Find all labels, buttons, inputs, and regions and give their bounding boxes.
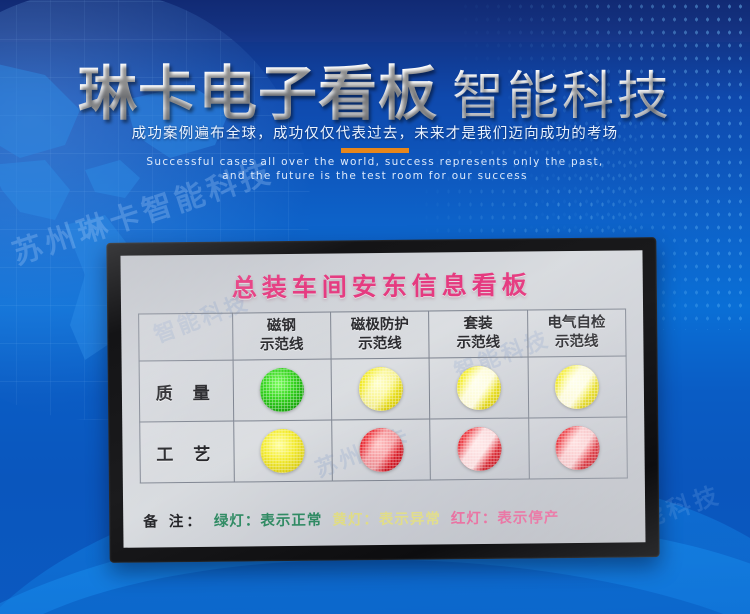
column-header-1: 磁钢 示范线 bbox=[232, 312, 331, 360]
banner-title-row: 琳卡电子看板智能科技 bbox=[0, 46, 750, 131]
column-header-1-line1: 磁钢 bbox=[234, 317, 330, 337]
status-lamp-yellow bbox=[457, 366, 501, 410]
status-cell-quality-2 bbox=[331, 358, 430, 420]
banner-title-sub: 智能科技 bbox=[452, 67, 672, 127]
status-board-table: 磁钢 示范线 磁极防护 示范线 套装 示范线 电气自检 示范线 bbox=[138, 308, 628, 483]
column-header-4: 电气自检 示范线 bbox=[527, 309, 626, 357]
status-cell-quality-4 bbox=[528, 356, 627, 418]
legend-prefix: 备 注： bbox=[143, 514, 204, 531]
banner-subtitle-en-line1: Successful cases all over the world, suc… bbox=[0, 155, 750, 169]
column-header-1-line2: 示范线 bbox=[234, 336, 330, 356]
legend-item-yellow: 黄灯：表示异常 bbox=[332, 511, 441, 528]
table-corner-cell bbox=[139, 313, 233, 361]
column-header-4-line1: 电气自检 bbox=[529, 313, 625, 333]
glare-overlay bbox=[457, 366, 501, 410]
banner-header: 琳卡电子看板智能科技 成功案例遍布全球，成功仅仅代表过去，未来才是我们迈向成功的… bbox=[0, 0, 750, 190]
column-header-2: 磁极防护 示范线 bbox=[330, 311, 429, 359]
banner-subtitle-cn: 成功案例遍布全球，成功仅仅代表过去，未来才是我们迈向成功的考场 bbox=[0, 122, 750, 143]
display-screen: 智能科技 苏州琳卡 智能科技 总装车间安东信息看板 磁钢 示范线 磁极防护 示范… bbox=[120, 250, 645, 547]
status-cell-process-3 bbox=[430, 418, 529, 480]
column-header-3: 套装 示范线 bbox=[429, 310, 528, 358]
legend-item-red: 红灯：表示停产 bbox=[451, 510, 560, 527]
status-cell-quality-3 bbox=[429, 357, 528, 419]
glare-overlay bbox=[556, 426, 600, 470]
status-lamp-green bbox=[260, 368, 304, 412]
status-cell-process-1 bbox=[233, 420, 332, 482]
row-label-quality: 质 量 bbox=[139, 360, 233, 422]
status-lamp-red bbox=[359, 428, 403, 472]
status-cell-process-2 bbox=[332, 419, 431, 481]
column-header-3-line2: 示范线 bbox=[431, 333, 527, 353]
banner-accent-bar bbox=[341, 148, 409, 153]
glare-overlay bbox=[457, 427, 501, 471]
banner-subtitle-en-line2: and the future is the test room for our … bbox=[0, 169, 750, 183]
column-header-2-line2: 示范线 bbox=[332, 335, 428, 355]
column-header-2-line1: 磁极防护 bbox=[332, 316, 428, 336]
row-label-process: 工 艺 bbox=[140, 421, 234, 483]
status-lamp-yellow bbox=[261, 429, 305, 473]
glare-overlay bbox=[358, 367, 402, 411]
display-monitor-bezel: 智能科技 苏州琳卡 智能科技 总装车间安东信息看板 磁钢 示范线 磁极防护 示范… bbox=[106, 237, 659, 563]
banner-subtitle-en: Successful cases all over the world, suc… bbox=[0, 155, 750, 183]
table-header-row: 磁钢 示范线 磁极防护 示范线 套装 示范线 电气自检 示范线 bbox=[139, 309, 626, 361]
column-header-3-line1: 套装 bbox=[430, 315, 526, 335]
status-lamp-red bbox=[457, 427, 501, 471]
status-lamp-red bbox=[556, 426, 600, 470]
status-cell-quality-1 bbox=[233, 359, 332, 421]
glare-overlay bbox=[555, 365, 599, 409]
glare-overlay bbox=[359, 428, 403, 472]
legend-item-green: 绿灯：表示正常 bbox=[214, 513, 323, 530]
table-row: 工 艺 bbox=[140, 417, 628, 483]
status-cell-process-4 bbox=[528, 417, 627, 479]
status-lamp-yellow bbox=[555, 365, 599, 409]
legend-note: 备 注：绿灯：表示正常黄灯：表示异常红灯：表示停产 bbox=[143, 505, 629, 531]
page-root: 苏州琳卡智能科技 琳卡智能科技 琳卡电子看板智能科技 成功案例遍布全球，成功仅仅… bbox=[0, 0, 750, 614]
board-title: 总装车间安东信息看板 bbox=[121, 264, 643, 305]
status-lamp-yellow bbox=[358, 367, 402, 411]
table-row: 质 量 bbox=[139, 356, 627, 422]
banner-title-main: 琳卡电子看板 bbox=[78, 59, 438, 128]
column-header-4-line2: 示范线 bbox=[529, 332, 625, 352]
